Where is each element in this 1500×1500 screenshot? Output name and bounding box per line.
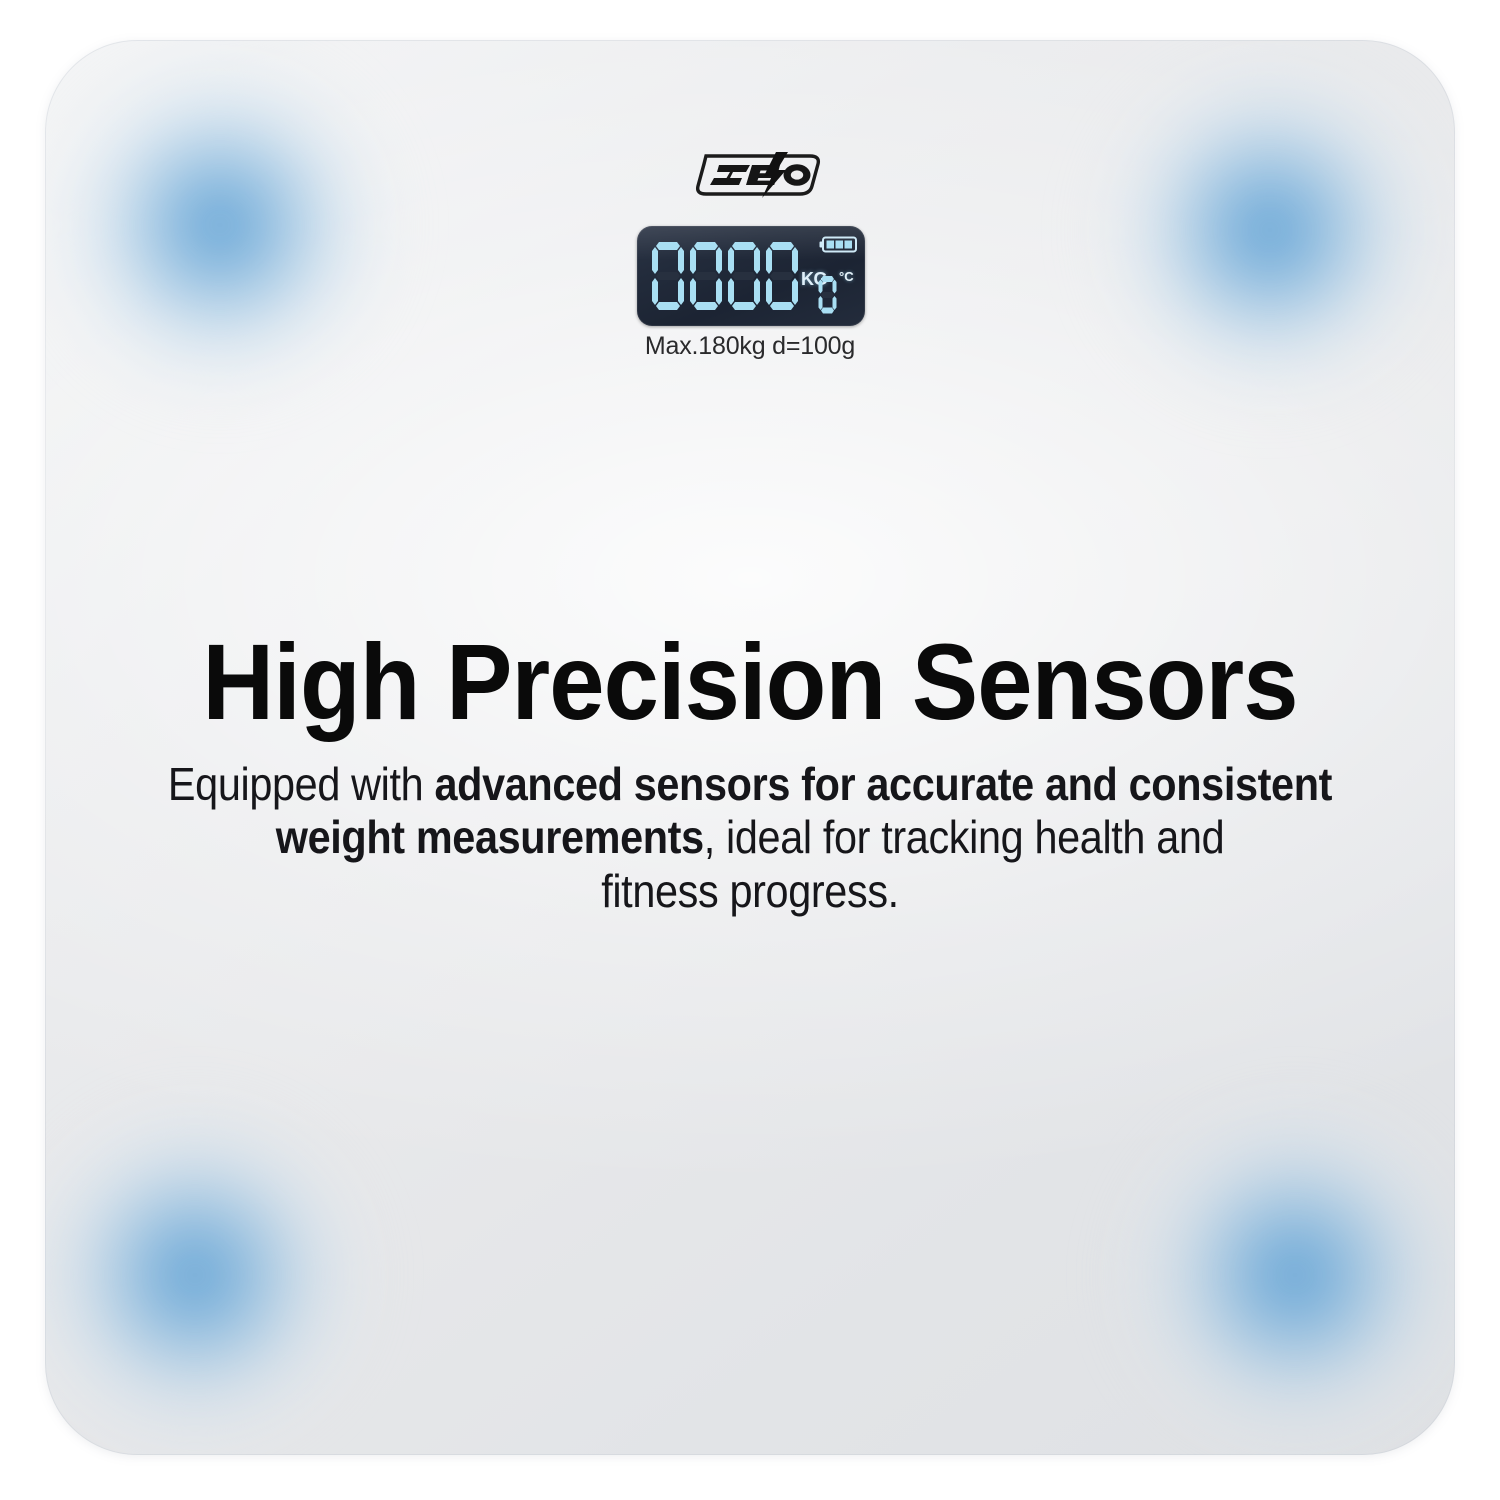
weight-digit — [651, 239, 685, 313]
sensor-glow-top-left — [45, 40, 435, 440]
body-copy-bold: advanced sensors for accurate and consis… — [434, 758, 1332, 810]
battery-icon — [819, 236, 859, 253]
sensor-glow-bottom-right — [1080, 1060, 1455, 1455]
brand-logo — [692, 152, 824, 198]
body-copy-bold: weight measurements — [276, 811, 704, 863]
weight-digit-group — [651, 239, 799, 313]
body-copy-line-2: weight measurements, ideal for tracking … — [138, 811, 1362, 864]
weight-digit — [727, 239, 761, 313]
temperature-digit — [818, 274, 837, 315]
body-copy-line-1: Equipped with advanced sensors for accur… — [138, 758, 1362, 811]
product-feature-image: KG °C — [0, 0, 1500, 1500]
capacity-caption: Max.180kg d=100g — [0, 332, 1500, 361]
weight-digit — [765, 239, 799, 313]
body-copy: Equipped with advanced sensors for accur… — [138, 758, 1362, 918]
sensor-glow-bottom-left — [45, 1060, 410, 1455]
body-copy-line-3: fitness progress. — [138, 865, 1362, 918]
lcd-display: KG °C — [637, 226, 865, 326]
page-title: High Precision Sensors — [124, 628, 1375, 736]
sensor-glow-top-right — [1055, 40, 1455, 445]
temperature-unit-label: °C — [839, 269, 854, 284]
temperature-readout: °C — [818, 268, 862, 316]
body-copy-regular: Equipped with — [168, 758, 435, 810]
weight-digit — [689, 239, 723, 313]
marketing-copy: High Precision Sensors Equipped with adv… — [70, 628, 1430, 918]
body-copy-regular: , ideal for tracking health and — [704, 811, 1224, 863]
